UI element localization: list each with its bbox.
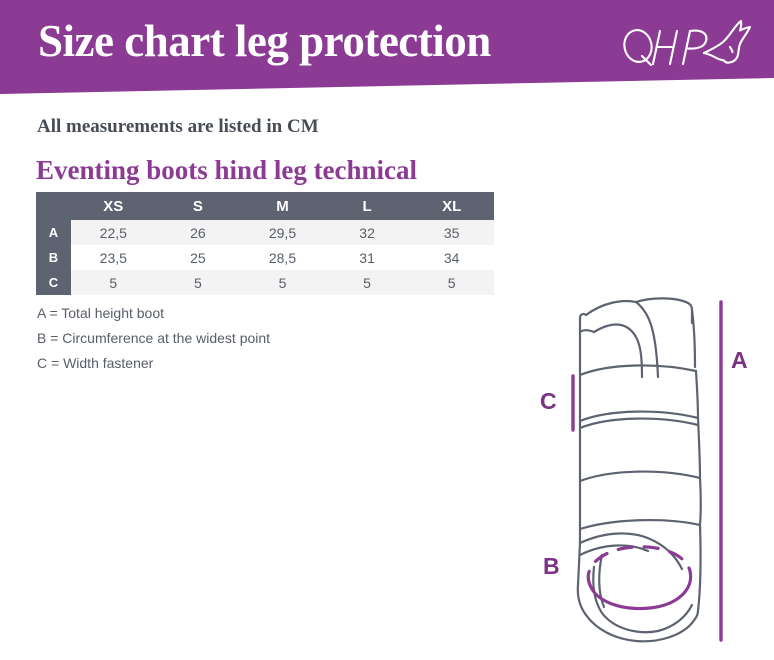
table-head: XS S M L XL	[36, 192, 494, 220]
cell-a-xl: 35	[409, 220, 494, 245]
row-label-c: C	[36, 270, 71, 295]
column-header-s: S	[156, 192, 241, 220]
row-label-b: B	[36, 245, 71, 270]
section-title: Eventing boots hind leg technical	[36, 154, 417, 187]
cell-b-xl: 34	[409, 245, 494, 270]
cell-c-l: 5	[325, 270, 410, 295]
legend-item-c: C = Width fastener	[37, 351, 417, 376]
table-row: B 23,5 25 28,5 31 34	[36, 245, 494, 270]
page-title: Size chart leg protection	[38, 15, 491, 67]
cell-a-l: 32	[325, 220, 410, 245]
cell-a-xs: 22,5	[71, 220, 156, 245]
table-row: A 22,5 26 29,5 32 35	[36, 220, 494, 245]
qhp-logo	[620, 16, 760, 78]
dimension-label-c: C	[540, 388, 557, 415]
dimension-label-b: B	[543, 553, 560, 580]
b-measure-solid-arc	[590, 571, 691, 609]
column-header-xl: XL	[409, 192, 494, 220]
cell-c-xs: 5	[71, 270, 156, 295]
b-measure-dashed-arc	[588, 547, 690, 585]
legend-item-b: B = Circumference at the widest point	[37, 326, 417, 351]
legend-item-a: A = Total height boot	[37, 301, 417, 326]
table-body: A 22,5 26 29,5 32 35 B 23,5 25 28,5 31 3…	[36, 220, 494, 295]
table-header-row: XS S M L XL	[36, 192, 494, 220]
cell-b-m: 28,5	[240, 245, 325, 270]
hind-leg-boot-diagram	[510, 285, 774, 655]
measurements-unit-note: All measurements are listed in CM	[37, 115, 319, 139]
size-chart-table: XS S M L XL A 22,5 26 29,5 32 35 B 23,5 …	[36, 192, 494, 295]
cell-c-s: 5	[156, 270, 241, 295]
measurement-legend: A = Total height boot B = Circumference …	[37, 301, 417, 376]
dimension-label-a: A	[731, 347, 748, 374]
table-row: C 5 5 5 5 5	[36, 270, 494, 295]
column-header-m: M	[240, 192, 325, 220]
cell-a-s: 26	[156, 220, 241, 245]
cell-b-l: 31	[325, 245, 410, 270]
cell-c-xl: 5	[409, 270, 494, 295]
table-corner-cell	[36, 192, 71, 220]
cell-b-s: 25	[156, 245, 241, 270]
row-label-a: A	[36, 220, 71, 245]
cell-b-xs: 23,5	[71, 245, 156, 270]
cell-a-m: 29,5	[240, 220, 325, 245]
cell-c-m: 5	[240, 270, 325, 295]
column-header-xs: XS	[71, 192, 156, 220]
column-header-l: L	[325, 192, 410, 220]
